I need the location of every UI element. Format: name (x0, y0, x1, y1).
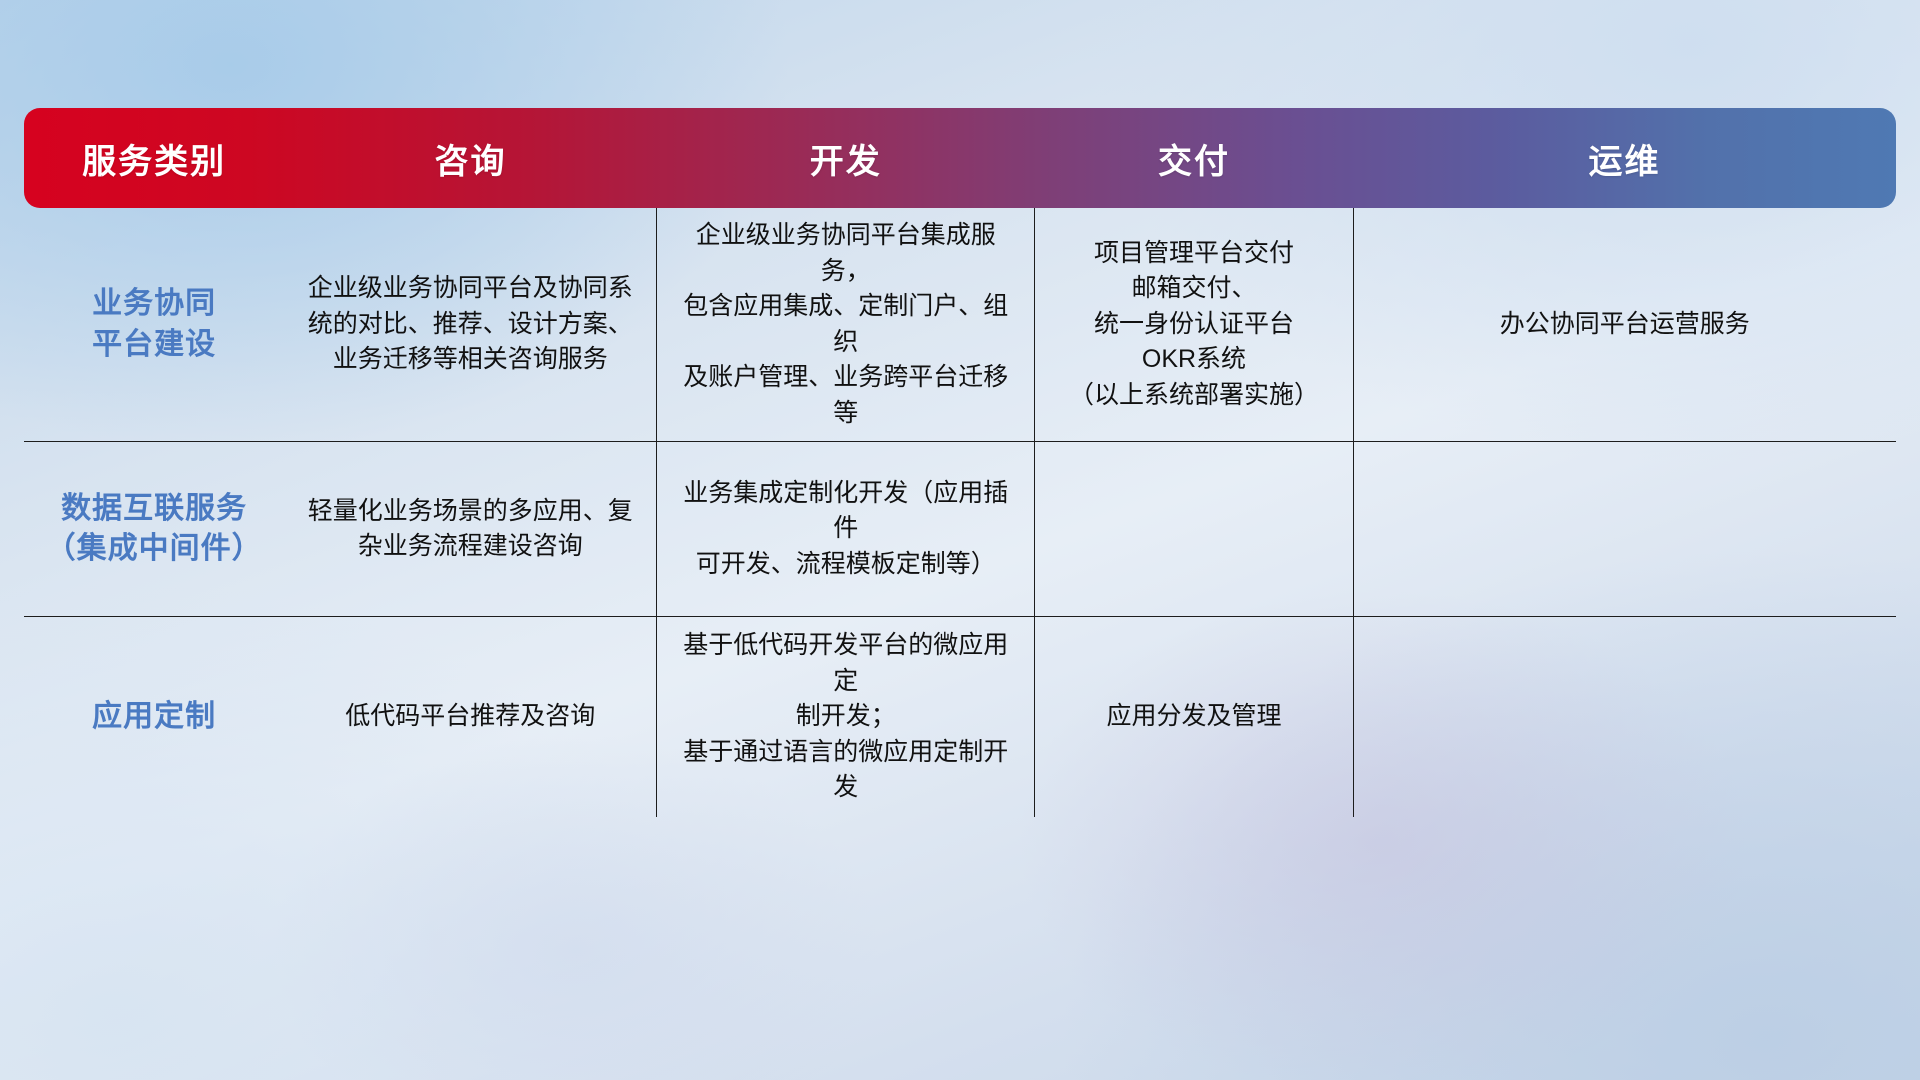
cell-row3-development: 基于低代码开发平台的微应用定 制开发； 基于通过语言的微应用定制开发 (657, 617, 1035, 817)
cell-row2-development: 业务集成定制化开发（应用插件 可开发、流程模板定制等） (657, 442, 1035, 617)
column-header-development: 开发 (657, 108, 1035, 208)
row-label-app-customization: 应用定制 (24, 617, 284, 817)
column-header-consulting: 咨询 (284, 108, 657, 208)
row-label-business-collaboration: 业务协同 平台建设 (24, 208, 284, 442)
service-matrix-table: 服务类别 咨询 开发 交付 运维 业务协同 平台建设 企业级业务协同平台及协同系… (24, 108, 1896, 788)
cell-row1-operations: 办公协同平台运营服务 (1353, 208, 1896, 442)
cell-row2-operations (1353, 442, 1896, 617)
cell-row1-consulting: 企业级业务协同平台及协同系 统的对比、推荐、设计方案、 业务迁移等相关咨询服务 (284, 208, 657, 442)
service-table: 服务类别 咨询 开发 交付 运维 业务协同 平台建设 企业级业务协同平台及协同系… (24, 108, 1896, 817)
column-header-category: 服务类别 (24, 108, 284, 208)
header-row: 服务类别 咨询 开发 交付 运维 (24, 108, 1896, 208)
column-header-delivery: 交付 (1035, 108, 1353, 208)
cell-row3-consulting: 低代码平台推荐及咨询 (284, 617, 657, 817)
cell-row1-delivery: 项目管理平台交付 邮箱交付、 统一身份认证平台 OKR系统 （以上系统部署实施） (1035, 208, 1353, 442)
cell-row2-delivery (1035, 442, 1353, 617)
row-label-data-interconnect: 数据互联服务 （集成中间件） (24, 442, 284, 617)
table-row: 数据互联服务 （集成中间件） 轻量化业务场景的多应用、复 杂业务流程建设咨询 业… (24, 442, 1896, 617)
column-header-operations: 运维 (1353, 108, 1896, 208)
table-header: 服务类别 咨询 开发 交付 运维 (24, 108, 1896, 208)
cell-row3-operations (1353, 617, 1896, 817)
cell-row3-delivery: 应用分发及管理 (1035, 617, 1353, 817)
table-row: 业务协同 平台建设 企业级业务协同平台及协同系 统的对比、推荐、设计方案、 业务… (24, 208, 1896, 442)
cell-row2-consulting: 轻量化业务场景的多应用、复 杂业务流程建设咨询 (284, 442, 657, 617)
table-row: 应用定制 低代码平台推荐及咨询 基于低代码开发平台的微应用定 制开发； 基于通过… (24, 617, 1896, 817)
cell-row1-development: 企业级业务协同平台集成服务， 包含应用集成、定制门户、组织 及账户管理、业务跨平… (657, 208, 1035, 442)
table-body: 业务协同 平台建设 企业级业务协同平台及协同系 统的对比、推荐、设计方案、 业务… (24, 208, 1896, 817)
